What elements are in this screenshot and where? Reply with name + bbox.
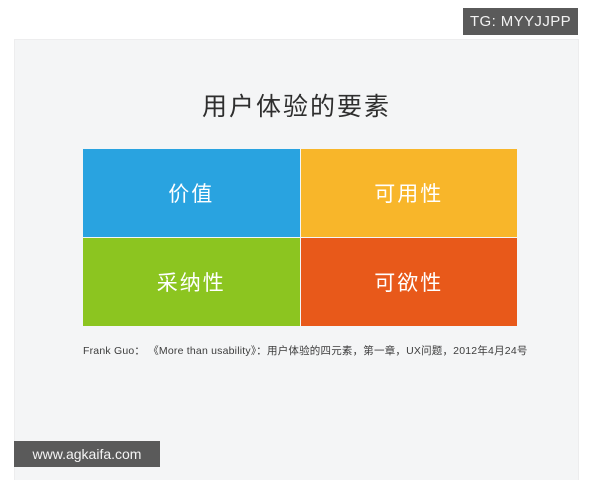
source-caption: Frank Guo： 《More than usability》：用户体验的四元… [83, 343, 553, 358]
site-watermark: www.agkaifa.com [14, 441, 160, 467]
quadrant-grid: 价值 可用性 采纳性 可欲性 [83, 149, 517, 326]
quadrant-desirability[interactable]: 可欲性 [301, 238, 518, 326]
slide-card: 用户体验的要素 价值 可用性 采纳性 可欲性 Frank Guo： 《More … [15, 40, 578, 480]
quadrant-value-label: 价值 [168, 178, 214, 208]
quadrant-usability-label: 可用性 [374, 178, 443, 208]
page-title: 用户体验的要素 [15, 87, 578, 123]
telegram-channel-badge: TG: MYYJJPP [463, 8, 578, 35]
quadrant-desirability-label: 可欲性 [374, 267, 443, 297]
quadrant-value[interactable]: 价值 [83, 149, 300, 237]
quadrant-adoption-label: 采纳性 [157, 267, 226, 297]
quadrant-usability[interactable]: 可用性 [301, 149, 518, 237]
quadrant-adoption[interactable]: 采纳性 [83, 238, 300, 326]
